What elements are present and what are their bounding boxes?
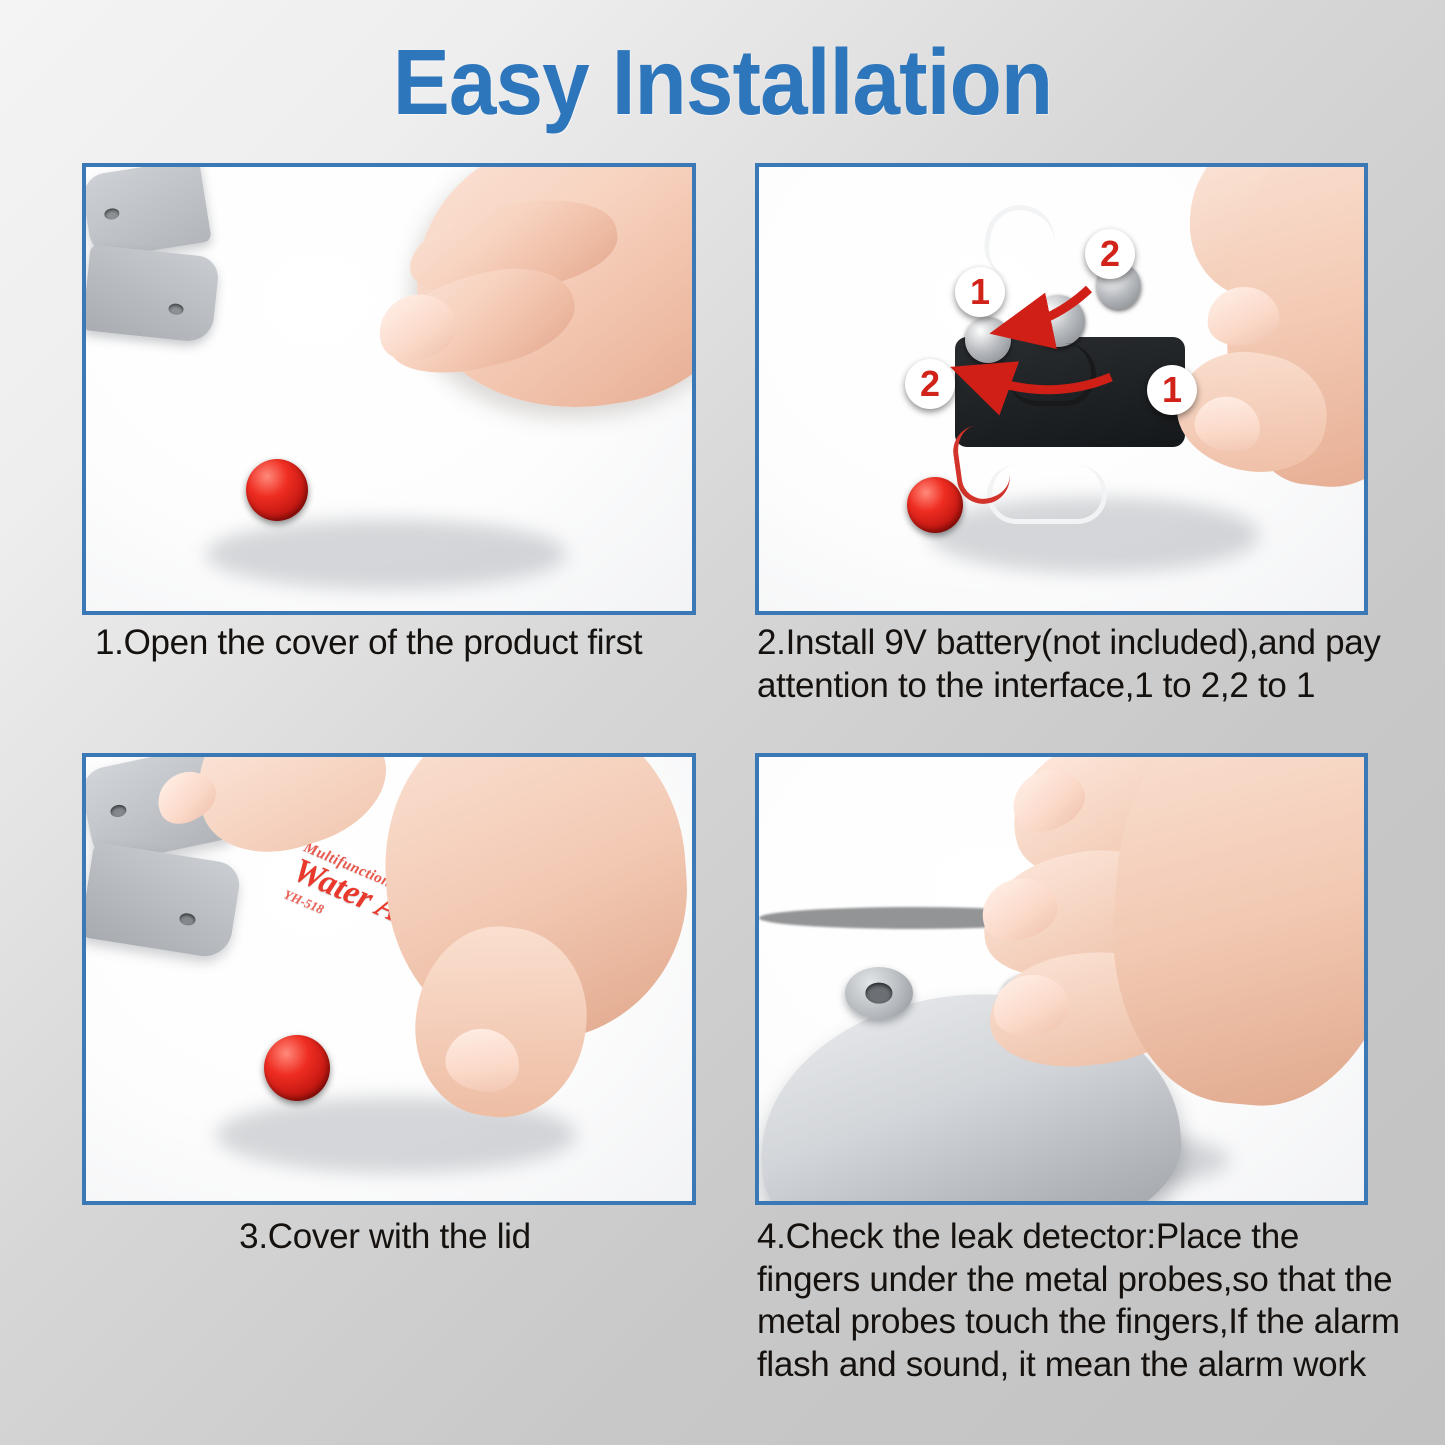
black-wire: [1007, 343, 1096, 406]
step-4-caption: 4.Check the leak detector:Place the fing…: [757, 1216, 1407, 1387]
screw-hole: [168, 303, 184, 316]
callout-2-left: 2: [905, 359, 955, 409]
step-3-caption: 3.Cover with the lid: [82, 1216, 688, 1259]
step-4-check-detector-photo: [759, 757, 1364, 1201]
screw-hole: [104, 207, 121, 220]
callout-2-top: 2: [1085, 229, 1135, 279]
step-4-panel: [755, 753, 1368, 1205]
step-2-install-battery-photo: NEW LEADER EXTRA HEAVY DUTY 6F22 9VOLTS …: [759, 167, 1364, 611]
drop-shadow: [206, 519, 566, 589]
infographic-page: Easy Installation: [0, 0, 1445, 1445]
screw-hole: [179, 912, 197, 926]
red-led-indicator: [907, 477, 963, 533]
red-led-indicator: [264, 1035, 330, 1101]
mounting-flange-right: [86, 244, 220, 343]
terminal-stud-center: [1031, 295, 1085, 347]
red-led-indicator: [246, 459, 308, 521]
callout-1-right: 1: [1147, 365, 1197, 415]
page-title: Easy Installation: [58, 36, 1387, 129]
step-2-panel: NEW LEADER EXTRA HEAVY DUTY 6F22 9VOLTS …: [755, 163, 1368, 615]
screw-boss-left: [845, 967, 913, 1019]
screw-hole: [109, 803, 127, 818]
step-3-cover-lid-photo: Multifunctional Water Alarm YH-518: [86, 757, 692, 1201]
step-1-panel: [82, 163, 696, 615]
step-1-caption: 1.Open the cover of the product first: [95, 622, 715, 665]
step-1-open-cover-photo: [86, 167, 692, 611]
terminal-stud-left: [965, 317, 1011, 363]
step-2-caption: 2.Install 9V battery(not included),and p…: [757, 622, 1397, 707]
step-3-panel: Multifunctional Water Alarm YH-518: [82, 753, 696, 1205]
callout-1-left: 1: [955, 267, 1005, 317]
